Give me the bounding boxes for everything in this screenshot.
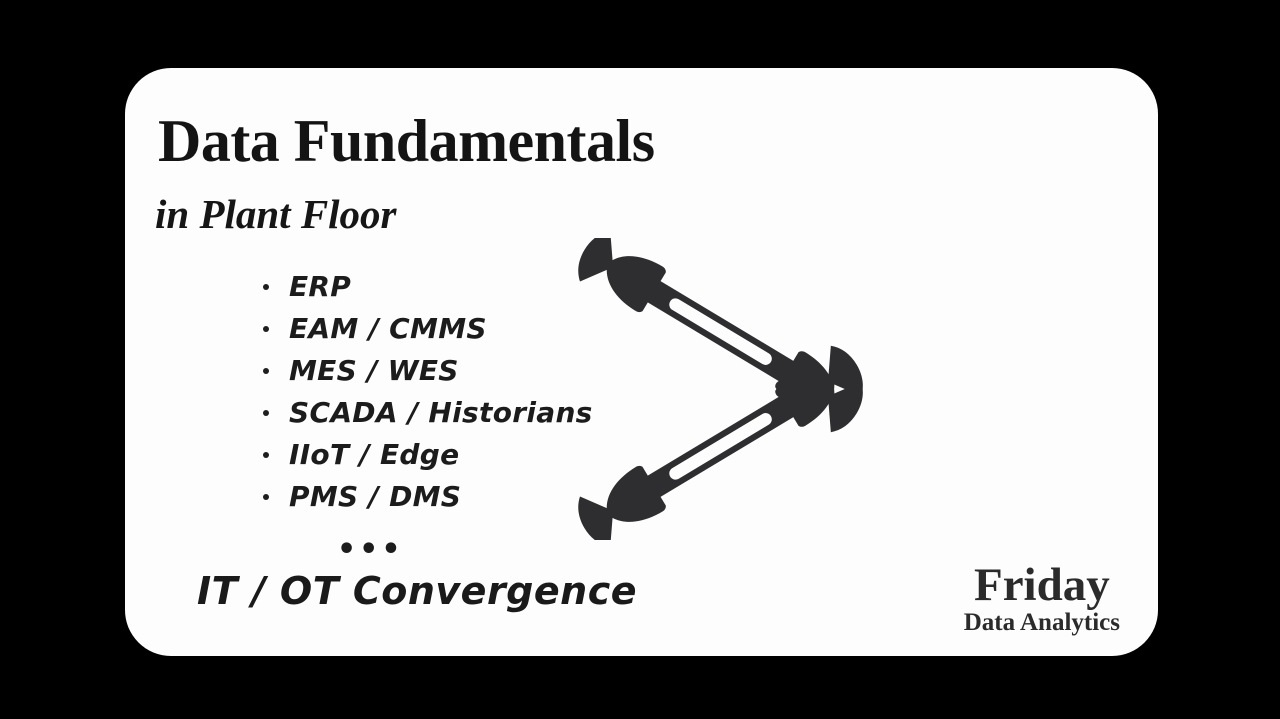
bullet-dot-icon	[263, 494, 269, 500]
list-item-label: SCADA / Historians	[289, 399, 593, 427]
brand-name: Friday	[964, 562, 1120, 610]
list-item: SCADA / Historians	[263, 399, 593, 441]
list-item-label: PMS / DMS	[289, 483, 461, 511]
topic-list: ERP EAM / CMMS MES / WES SCADA / Histori…	[263, 273, 593, 525]
list-item: PMS / DMS	[263, 483, 593, 525]
crossed-wrenches-icon	[573, 238, 1059, 540]
brand-lockup: Friday Data Analytics	[964, 562, 1120, 636]
bullet-dot-icon	[263, 326, 269, 332]
bullet-dot-icon	[263, 410, 269, 416]
list-item-label: EAM / CMMS	[289, 315, 487, 343]
list-item: MES / WES	[263, 357, 593, 399]
list-continuation-ellipsis: •••	[337, 535, 404, 565]
list-item: ERP	[263, 273, 593, 315]
slide-root: Data Fundamentals in Plant Floor ERP EAM…	[0, 0, 1280, 719]
bullet-dot-icon	[263, 368, 269, 374]
bullet-dot-icon	[263, 452, 269, 458]
convergence-tagline: IT / OT Convergence	[197, 572, 637, 610]
content-card: Data Fundamentals in Plant Floor ERP EAM…	[125, 68, 1158, 656]
bullet-dot-icon	[263, 284, 269, 290]
list-item: IIoT / Edge	[263, 441, 593, 483]
page-title: Data Fundamentals	[158, 111, 655, 171]
page-subtitle: in Plant Floor	[155, 194, 397, 235]
list-item: EAM / CMMS	[263, 315, 593, 357]
list-item-label: ERP	[289, 273, 351, 301]
brand-tagline: Data Analytics	[964, 610, 1120, 636]
list-item-label: IIoT / Edge	[289, 441, 459, 469]
list-item-label: MES / WES	[289, 357, 459, 385]
